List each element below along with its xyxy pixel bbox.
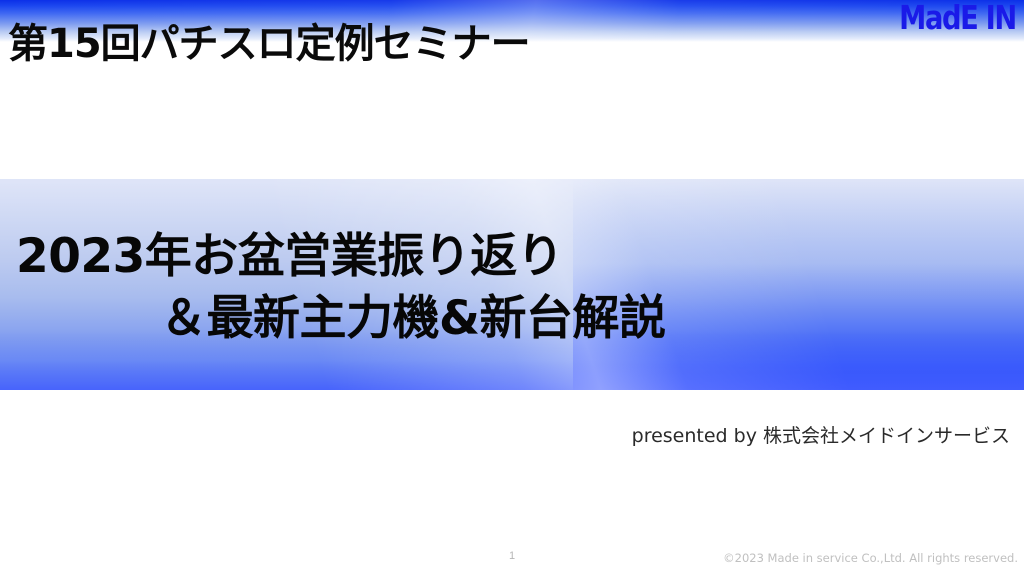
seminar-title: 第15回パチスロ定例セミナー xyxy=(8,21,530,67)
main-title-line-1: 2023年お盆営業振り返り xyxy=(16,226,1024,288)
title-gradient-band: 2023年お盆営業振り返り ＆最新主力機&新台解説 xyxy=(0,179,1024,390)
made-in-logo: MadE IN xyxy=(899,0,1016,38)
presenter-credit: presented by 株式会社メイドインサービス xyxy=(632,421,1010,448)
presentation-slide: MadE IN 第15回パチスロ定例セミナー 2023年お盆営業振り返り ＆最新… xyxy=(0,0,1024,576)
copyright-notice: ©2023 Made in service Co.,Ltd. All right… xyxy=(723,551,1018,565)
main-title: 2023年お盆営業振り返り ＆最新主力機&新台解説 xyxy=(0,179,1024,390)
main-title-line-2: ＆最新主力機&新台解説 xyxy=(160,288,1024,350)
